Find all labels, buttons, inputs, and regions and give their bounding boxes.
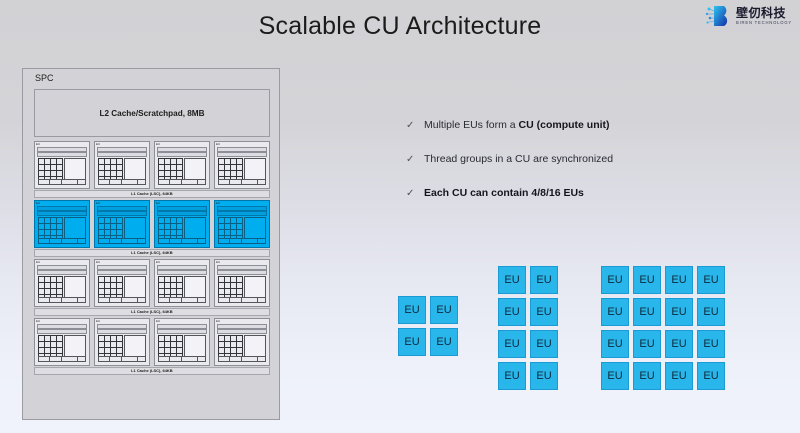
eu-block-tag: EU	[216, 142, 220, 146]
eu-block: EU	[34, 200, 90, 248]
eu-tile: EU	[697, 266, 725, 294]
eu-tile: EU	[697, 362, 725, 390]
eu-tile: EU	[530, 330, 558, 358]
eu-tile: EU	[665, 298, 693, 326]
l1-cache-label: L1 Cache (LSC), 64KB	[131, 192, 173, 196]
bullet-text-emphasis: CU (compute unit)	[519, 119, 610, 131]
eu-block-footer-bar	[38, 179, 86, 185]
eu-tile: EU	[601, 362, 629, 390]
eu-block-tag: EU	[96, 319, 100, 323]
eu-block: EU	[94, 318, 150, 366]
eu-block: EU	[34, 318, 90, 366]
eu-row: EUEUEUEU	[34, 141, 270, 189]
eu-tile: EU	[633, 298, 661, 326]
l1-cache-label: L1 Cache (LSC), 64KB	[131, 369, 173, 373]
eu-block: EU	[34, 141, 90, 189]
bullet-item: ✓Multiple EUs form a CU (compute unit)	[406, 118, 776, 133]
eu-block-tag: EU	[156, 142, 160, 146]
eu-block: EU	[154, 259, 210, 307]
check-icon: ✓	[406, 152, 424, 167]
eu-block: EU	[214, 259, 270, 307]
eu-block-header-bar	[97, 270, 147, 275]
eu-block-footer-bar	[98, 356, 146, 362]
eu-block-header-bar	[157, 270, 207, 275]
check-icon: ✓	[406, 118, 424, 133]
eu-tile: EU	[697, 298, 725, 326]
eu-block-tag: EU	[36, 201, 40, 205]
eu-block-footer-bar	[158, 179, 206, 185]
l1-cache-bar: L1 Cache (LSC), 64KB	[34, 190, 270, 198]
eu-tile: EU	[530, 298, 558, 326]
eu-block-header-bar	[157, 329, 207, 334]
bullet-text: Multiple EUs form a CU (compute unit)	[424, 118, 610, 133]
bullet-item: ✓Each CU can contain 4/8/16 EUs	[406, 186, 776, 201]
eu-block: EU	[94, 259, 150, 307]
eu-block: EU	[94, 141, 150, 189]
eu-block: EU	[94, 200, 150, 248]
logo-wordmark: 壁仞科技 BIREN TECHNOLOGY	[736, 7, 792, 25]
eu-block-tag: EU	[216, 201, 220, 205]
eu-block-footer-bar	[38, 297, 86, 303]
eu-block-header-bar	[157, 152, 207, 157]
logo-company-en: BIREN TECHNOLOGY	[736, 21, 792, 25]
eu-block-tag: EU	[96, 142, 100, 146]
eu-block-footer-bar	[218, 179, 266, 185]
eu-rows-container: EUEUEUEUL1 Cache (LSC), 64KBEUEUEUEUL1 C…	[34, 141, 270, 377]
eu-tile: EU	[498, 330, 526, 358]
bullet-list: ✓Multiple EUs form a CU (compute unit)✓T…	[406, 118, 776, 220]
eu-tile: EU	[601, 330, 629, 358]
cu-8-eus-group: EUEUEUEUEUEUEUEU	[498, 266, 558, 390]
eu-tile: EU	[697, 330, 725, 358]
eu-block: EU	[154, 318, 210, 366]
eu-block-footer-bar	[218, 297, 266, 303]
eu-tile: EU	[633, 266, 661, 294]
l1-cache-label: L1 Cache (LSC), 64KB	[131, 310, 173, 314]
eu-block-footer-bar	[98, 238, 146, 244]
eu-block-tag: EU	[156, 319, 160, 323]
eu-block-tag: EU	[156, 201, 160, 205]
cu-16-eus-group: EUEUEUEUEUEUEUEUEUEUEUEUEUEUEUEU	[601, 266, 725, 390]
eu-tile: EU	[601, 266, 629, 294]
eu-block-footer-bar	[98, 179, 146, 185]
eu-block: EU	[214, 200, 270, 248]
eu-block-tag: EU	[36, 319, 40, 323]
eu-block-footer-bar	[218, 238, 266, 244]
eu-block-header-bar	[97, 152, 147, 157]
eu-block-header-bar	[97, 211, 147, 216]
eu-block: EU	[214, 141, 270, 189]
eu-tile: EU	[498, 266, 526, 294]
eu-block-footer-bar	[158, 297, 206, 303]
eu-row: EUEUEUEU	[34, 318, 270, 366]
eu-block-header-bar	[37, 270, 87, 275]
logo-company-cn: 壁仞科技	[736, 7, 792, 19]
eu-block-footer-bar	[158, 356, 206, 362]
eu-block-footer-bar	[218, 356, 266, 362]
eu-block-header-bar	[157, 211, 207, 216]
eu-block: EU	[154, 200, 210, 248]
page-title: Scalable CU Architecture	[0, 12, 800, 41]
eu-block-tag: EU	[156, 260, 160, 264]
check-icon: ✓	[406, 186, 424, 201]
eu-tile: EU	[430, 328, 458, 356]
bullet-text: Thread groups in a CU are synchronized	[424, 152, 613, 167]
eu-block-footer-bar	[38, 238, 86, 244]
eu-block: EU	[154, 141, 210, 189]
l1-cache-bar: L1 Cache (LSC), 64KB	[34, 308, 270, 316]
company-logo: 壁仞科技 BIREN TECHNOLOGY	[705, 5, 792, 27]
eu-block-header-bar	[217, 152, 267, 157]
eu-block-header-bar	[37, 329, 87, 334]
eu-tile: EU	[665, 266, 693, 294]
cu-4-eus-group: EUEUEUEU	[398, 296, 458, 356]
eu-row: EUEUEUEU	[34, 259, 270, 307]
eu-block-footer-bar	[38, 356, 86, 362]
eu-tile: EU	[665, 362, 693, 390]
eu-tile: EU	[530, 266, 558, 294]
eu-block-tag: EU	[96, 201, 100, 205]
l1-cache-bar: L1 Cache (LSC), 64KB	[34, 367, 270, 375]
eu-block-tag: EU	[216, 319, 220, 323]
l2-cache-label: L2 Cache/Scratchpad, 8MB	[99, 109, 204, 118]
eu-block: EU	[34, 259, 90, 307]
eu-block-footer-bar	[98, 297, 146, 303]
eu-row: EUEUEUEU	[34, 200, 270, 248]
eu-block-header-bar	[217, 329, 267, 334]
l1-cache-label: L1 Cache (LSC), 64KB	[131, 251, 173, 255]
eu-tile: EU	[633, 362, 661, 390]
l2-cache-block: L2 Cache/Scratchpad, 8MB	[34, 89, 270, 137]
eu-block-footer-bar	[158, 238, 206, 244]
eu-tile: EU	[498, 298, 526, 326]
eu-tile: EU	[498, 362, 526, 390]
eu-block-header-bar	[37, 152, 87, 157]
eu-tile: EU	[530, 362, 558, 390]
eu-block-tag: EU	[36, 142, 40, 146]
eu-block-header-bar	[97, 329, 147, 334]
eu-block-tag: EU	[216, 260, 220, 264]
eu-block-header-bar	[217, 270, 267, 275]
spc-label: SPC	[35, 73, 54, 83]
eu-tile: EU	[633, 330, 661, 358]
bullet-item: ✓Thread groups in a CU are synchronized	[406, 152, 776, 167]
eu-block: EU	[214, 318, 270, 366]
eu-tile: EU	[398, 328, 426, 356]
bullet-text: Each CU can contain 4/8/16 EUs	[424, 186, 584, 201]
l1-cache-bar: L1 Cache (LSC), 64KB	[34, 249, 270, 257]
eu-block-header-bar	[37, 211, 87, 216]
eu-block-tag: EU	[36, 260, 40, 264]
eu-tile: EU	[430, 296, 458, 324]
eu-tile: EU	[601, 298, 629, 326]
biren-logo-icon	[705, 5, 731, 27]
eu-tile: EU	[398, 296, 426, 324]
eu-block-tag: EU	[96, 260, 100, 264]
eu-block-header-bar	[217, 211, 267, 216]
eu-tile: EU	[665, 330, 693, 358]
spc-diagram: SPC L2 Cache/Scratchpad, 8MB EUEUEUEUL1 …	[22, 68, 280, 420]
